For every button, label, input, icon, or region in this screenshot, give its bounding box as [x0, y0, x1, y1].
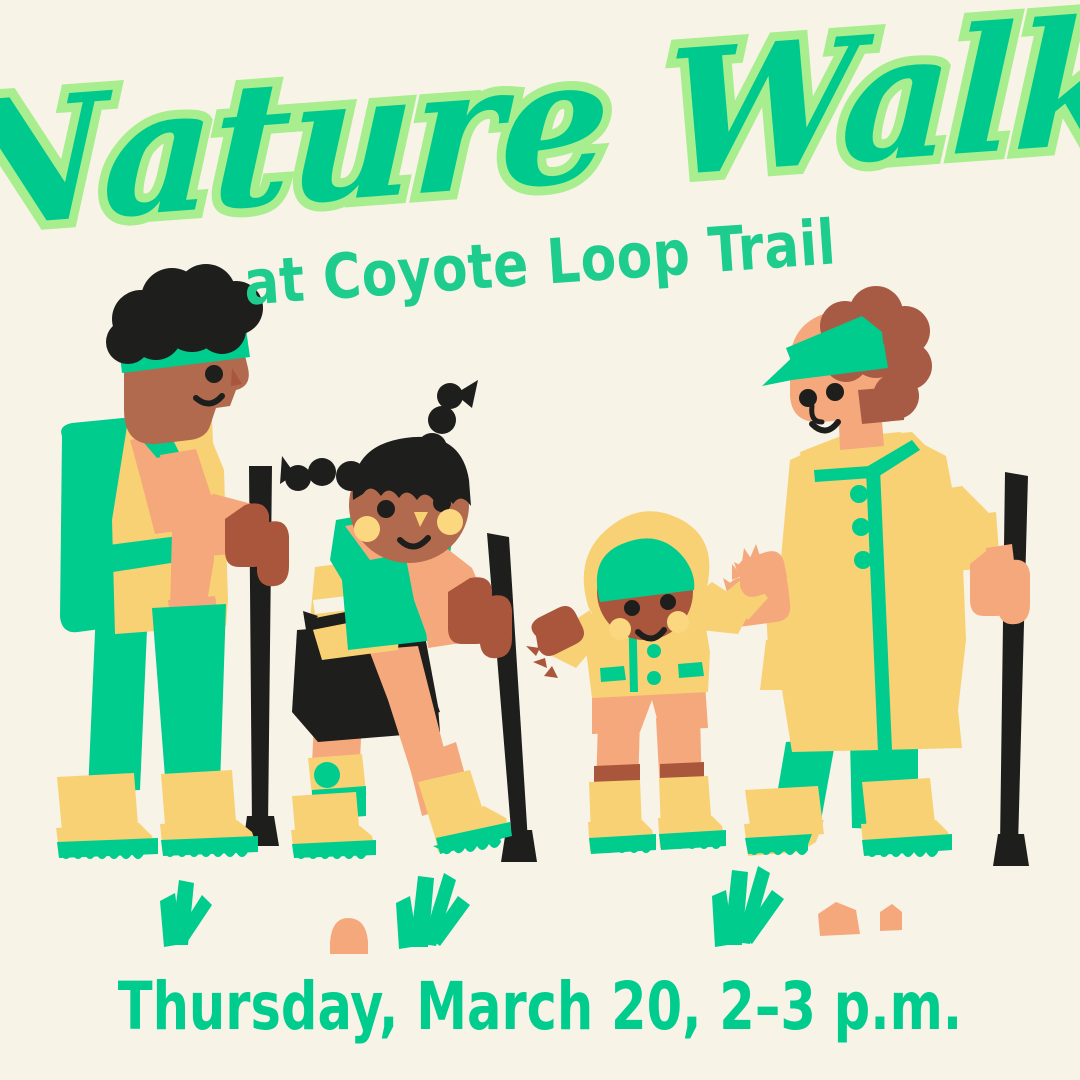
- rock-1: [330, 918, 368, 954]
- boot-front-left: [160, 770, 258, 857]
- toddler-button-2: [647, 644, 661, 658]
- left-leg-back: [88, 607, 148, 792]
- braid-side-beaded: [280, 456, 366, 491]
- nature-walk-illustration: [0, 0, 1080, 1080]
- toddler-blush-right: [667, 611, 689, 633]
- toddler-hand-right: [734, 544, 787, 597]
- boot-right-adult-back: [744, 786, 824, 856]
- eye-left-adult: [205, 365, 223, 383]
- blush-girl-right: [437, 509, 463, 535]
- coat-button-2: [852, 518, 870, 536]
- ground-elements: [160, 866, 902, 954]
- grass-tuft-1: [160, 880, 212, 947]
- eye-right-adult-1: [799, 389, 817, 407]
- poster-canvas: Nature Walk at Coyote Loop Trail Thursda…: [0, 0, 1080, 1080]
- rock-2: [818, 902, 860, 936]
- figure-hiker-girl: [280, 380, 512, 859]
- boot-right-adult-front: [861, 778, 952, 857]
- toddler-pocket-left: [600, 666, 626, 682]
- grass-tuft-3: [712, 866, 784, 947]
- toddler-eye-left: [624, 600, 640, 616]
- left-leg-front: [152, 604, 226, 790]
- toddler-button-3: [647, 671, 661, 685]
- boot-girl-front: [418, 770, 512, 854]
- boot-toddler-right: [658, 776, 726, 850]
- toddler-eye-right: [660, 594, 676, 610]
- rock-3: [880, 904, 902, 931]
- eye-girl-left: [377, 500, 395, 518]
- hiking-pole-4: [993, 472, 1029, 866]
- coat-button-3: [854, 551, 872, 569]
- boot-toddler-left: [588, 780, 656, 854]
- grass-tuft-2: [396, 873, 470, 949]
- coat-button-1: [850, 485, 868, 503]
- toddler-pocket-right: [678, 662, 704, 678]
- toddler-blush-left: [609, 618, 631, 640]
- boot-back-left: [56, 773, 158, 859]
- eye-right-adult-2: [826, 383, 844, 401]
- blush-girl-left: [354, 516, 380, 542]
